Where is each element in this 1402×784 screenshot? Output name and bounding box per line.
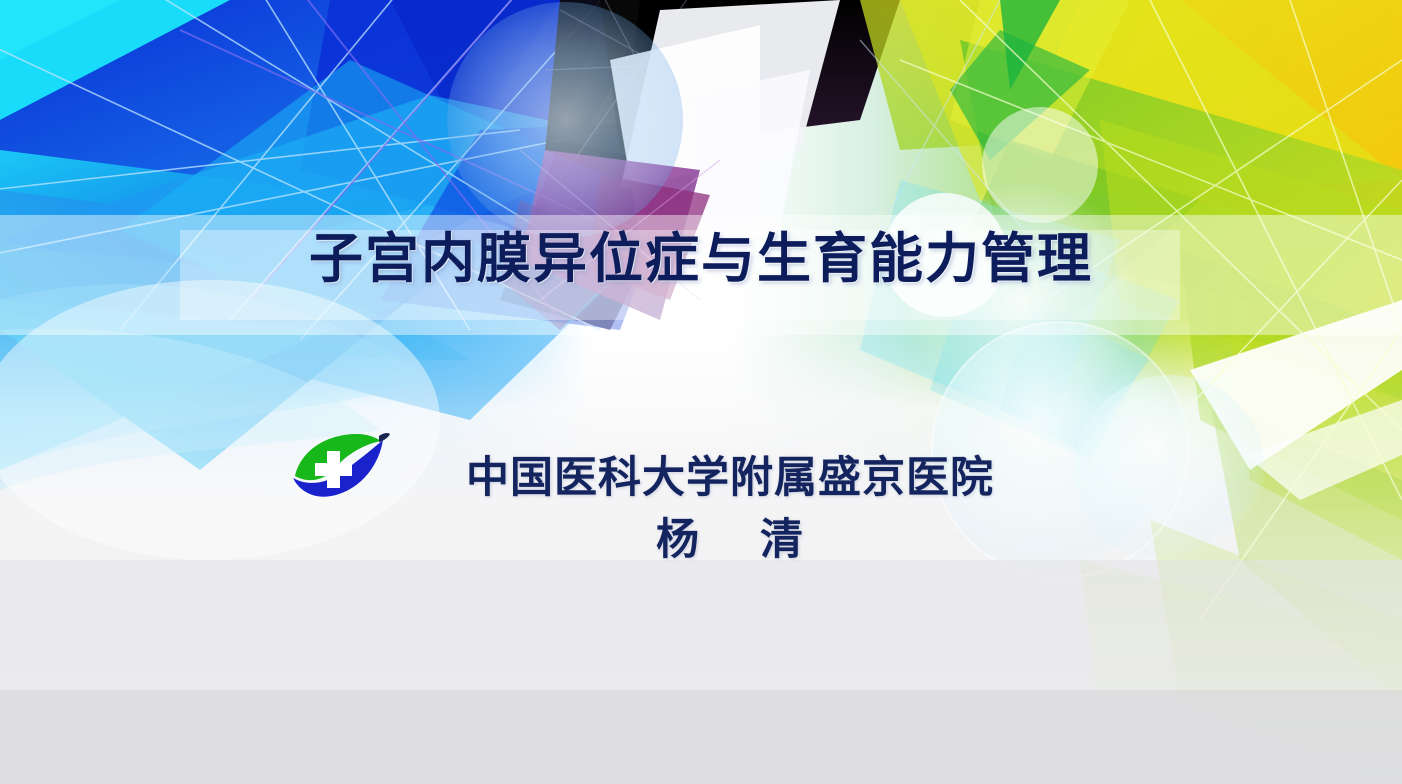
affiliation-line: 中国医科大学附属盛京医院 [0, 452, 1402, 504]
slide-title: 子宫内膜异位症与生育能力管理 [0, 228, 1402, 290]
presenter-given-name: 清 [760, 516, 804, 564]
background-base-gradient [0, 0, 1402, 784]
author-block: 中国医科大学附属盛京医院 杨 清 [0, 452, 1402, 566]
presenter-line: 杨 清 [0, 514, 1402, 566]
presentation-title-slide: 子宫内膜异位症与生育能力管理 中国医科大学附属盛京医院 杨 清 [0, 0, 1402, 784]
presenter-surname: 杨 [656, 516, 700, 564]
